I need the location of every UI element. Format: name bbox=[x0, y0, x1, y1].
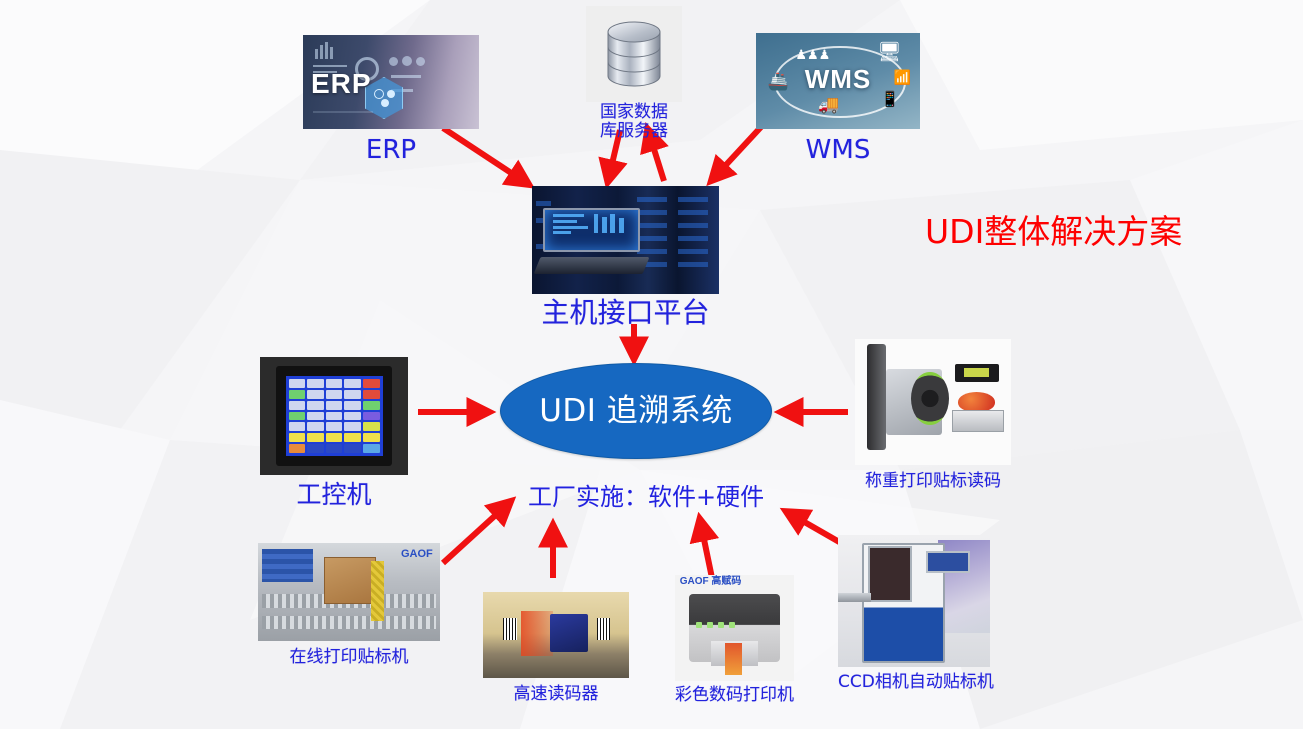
page-title: UDI整体解决方案 bbox=[925, 214, 1182, 250]
watermark-logo: GAOF 高赋码 bbox=[680, 577, 742, 587]
node-ccd-label: CCD相机自动贴标机 bbox=[838, 672, 990, 692]
factory-implementation-note: 工厂实施：软件+硬件 bbox=[528, 484, 764, 510]
node-db-server-label-line1: 国家数据 bbox=[586, 103, 682, 122]
node-reader[interactable]: 高速读码器 bbox=[483, 592, 629, 704]
node-db-server-label: 国家数据 库服务器 bbox=[586, 103, 682, 141]
node-cprinter-label: 彩色数码打印机 bbox=[675, 685, 794, 705]
high-speed-code-reader-photo bbox=[483, 592, 629, 678]
wms-photo-text: WMS bbox=[805, 66, 872, 92]
weigh-label-printer-photo bbox=[855, 339, 1011, 465]
node-db-server-label-line2: 库服务器 bbox=[586, 122, 682, 141]
erp-photo: ERP bbox=[303, 35, 479, 129]
node-ccd[interactable]: CCD相机自动贴标机 bbox=[838, 535, 990, 692]
node-host[interactable]: 主机接口平台 bbox=[532, 186, 719, 329]
erp-photo-text: ERP bbox=[311, 70, 372, 98]
ccd-auto-labeler-photo bbox=[838, 535, 990, 667]
node-wms-label: WMS bbox=[756, 135, 920, 165]
node-online[interactable]: GAOF 在线打印贴标机 bbox=[258, 543, 440, 667]
watermark-logo: GAOF bbox=[401, 549, 433, 560]
node-erp-label: ERP bbox=[303, 135, 479, 165]
database-cylinder-icon bbox=[586, 6, 682, 102]
color-digital-printer-photo: GAOF 高赋码 bbox=[675, 575, 794, 681]
node-weigh[interactable]: 称重打印贴标读码 bbox=[855, 339, 1011, 491]
node-hmi[interactable]: 工控机 bbox=[260, 357, 408, 509]
server-rack-laptop-photo bbox=[532, 186, 719, 294]
node-erp[interactable]: ERP ERP bbox=[303, 35, 479, 165]
label-reel-icon bbox=[911, 372, 948, 425]
udi-core-label: UDI 追溯系统 bbox=[539, 396, 733, 427]
industrial-hmi-photo bbox=[260, 357, 408, 475]
hmi-screen bbox=[286, 376, 383, 455]
node-cprinter[interactable]: GAOF 高赋码 彩色数码打印机 bbox=[675, 575, 794, 705]
conveyor-print-apply-photo: GAOF bbox=[258, 543, 440, 641]
wms-photo: ♟♟♟ 🖥 🚢 🚚 📱 📶 WMS bbox=[756, 33, 920, 129]
node-weigh-label: 称重打印贴标读码 bbox=[855, 471, 1011, 491]
hmi-bezel bbox=[276, 366, 391, 465]
node-db-server[interactable]: 国家数据 库服务器 bbox=[586, 6, 682, 141]
node-reader-label: 高速读码器 bbox=[483, 684, 629, 704]
udi-core-node[interactable]: UDI 追溯系统 bbox=[500, 363, 772, 459]
node-wms[interactable]: ♟♟♟ 🖥 🚢 🚚 📱 📶 WMS WMS bbox=[756, 33, 920, 165]
node-host-label: 主机接口平台 bbox=[532, 297, 719, 329]
node-hmi-label: 工控机 bbox=[260, 481, 408, 509]
node-online-label: 在线打印贴标机 bbox=[258, 647, 440, 667]
laptop-icon bbox=[543, 208, 640, 275]
